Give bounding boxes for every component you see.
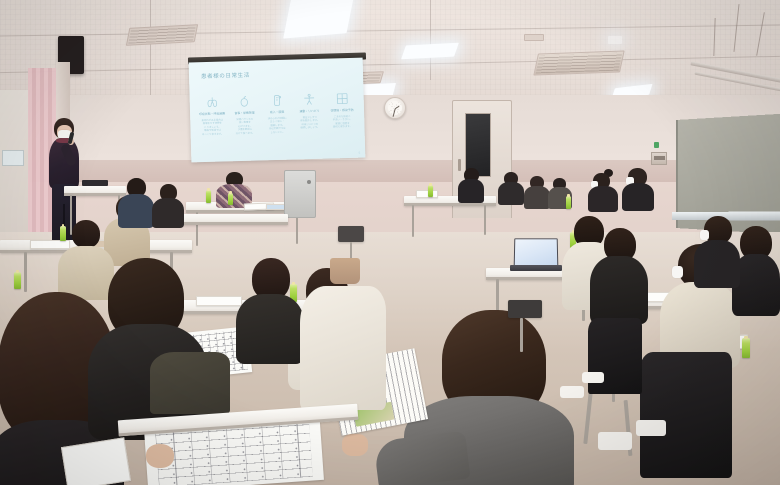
slide-body-4: 毎日少しずつ 体を動かします。 呼吸リハビリを 継続しましょう。 <box>296 115 324 130</box>
ceiling-light-7 <box>608 36 622 44</box>
window-icon <box>335 92 348 105</box>
projector-screen[interactable]: 患者様の日常生活 呼吸状態・呼吸困難 息切れがある場合は 無理をせず休憩を とり… <box>189 58 366 163</box>
attendee-shoe <box>560 386 584 398</box>
exit-indicator-icon <box>654 142 659 148</box>
green-tea-bottle <box>14 272 21 289</box>
attendee-torso <box>590 256 648 324</box>
slide-icon-row: 呼吸状態・呼吸困難 息切れがある場合は 無理をせず休憩を とりましょう。 階段や… <box>198 92 357 137</box>
attendee-back-2 <box>498 172 524 204</box>
attendee-right-dark <box>590 228 648 320</box>
slide-column-3: 吸入・服薬 決められた時間に 正しく吸入・ 服薬します。 自己判断で中止 しない… <box>263 94 292 135</box>
air-purifier <box>284 170 316 218</box>
seminar-room-photo: 患者様の日常生活 呼吸状態・呼吸困難 息切れがある場合は 無理をせず休憩を とり… <box>0 0 780 485</box>
wall-notice <box>2 150 24 166</box>
slide-column-5: 住環境・感染予防 こまめな換気と 手洗い・うがい。 室温と湿度を 適切に保ちます… <box>328 92 357 133</box>
desk-leg <box>24 252 27 292</box>
slide-body-1: 息切れがある場合は 無理をせず休憩を とりましょう。 階段や坂道では ゆっくり歩… <box>198 118 226 136</box>
inhaler-icon <box>270 94 283 107</box>
attendee-torso <box>458 179 484 203</box>
green-tea-bottle <box>742 338 750 358</box>
attendee-torso <box>694 240 740 288</box>
attendee-foreground-gray <box>404 310 574 485</box>
attendee-face-mask <box>700 230 709 240</box>
slide-body-3: 決められた時間に 正しく吸入・ 服薬します。 自己判断で中止 しないこと。 <box>263 116 291 134</box>
desk-edge <box>404 203 496 206</box>
ceiling-vent-3 <box>524 34 544 41</box>
attendee-center-dark <box>236 258 304 358</box>
wall-clock <box>384 97 406 119</box>
wall-control-box[interactable] <box>651 152 667 165</box>
slide-body-2: 栄養バランスの 良い食事を 心がけます。 少量を数回に 分けて食べます。 <box>231 117 259 135</box>
foreground-hand <box>146 444 174 468</box>
slide-title: 患者様の日常生活 <box>201 71 250 80</box>
ceiling-vent-1 <box>126 24 198 46</box>
desk-papers <box>416 190 438 198</box>
slide-caption-4: 運動・リハビリ <box>296 110 324 115</box>
apple-icon <box>238 95 251 108</box>
green-tea-bottle <box>206 190 211 203</box>
attendee-mid-dark-2 <box>152 184 184 226</box>
attendee-shoe <box>582 372 604 383</box>
attendee-shoe <box>636 420 666 436</box>
attendee-torso <box>524 186 550 209</box>
coat-on-chair <box>640 352 732 478</box>
attendee-torso <box>588 186 618 212</box>
attendee-shoulder-olive <box>150 352 230 414</box>
ceiling-ac-unit <box>533 51 624 76</box>
attendee-masked-right <box>622 168 654 210</box>
attendee-bun-right <box>588 172 618 210</box>
slide-caption-5: 住環境・感染予防 <box>328 109 356 114</box>
attendee-back-1 <box>458 168 484 202</box>
slide-page-number: 5 <box>358 151 360 155</box>
attendee-hand <box>342 434 368 456</box>
attendee-shoe <box>598 432 632 450</box>
attendee-torso <box>498 182 524 205</box>
stretch-figure-icon <box>303 93 316 106</box>
ceiling-light-1 <box>283 0 355 39</box>
handbag <box>330 258 360 284</box>
slide-column-2: 食事・栄養管理 栄養バランスの 良い食事を 心がけます。 少量を数回に 分けて食… <box>230 95 259 136</box>
desk-leg <box>484 205 486 235</box>
attendee-torso <box>152 198 184 228</box>
attendee-torso <box>118 194 154 228</box>
podium-laptop <box>82 180 108 186</box>
attendee-face-mask <box>672 266 683 278</box>
slide-body-5: こまめな換気と 手洗い・うがい。 室温と湿度を 適切に保ちます。 <box>328 115 356 130</box>
green-tea-bottle <box>428 185 433 197</box>
lungs-icon <box>205 96 218 109</box>
attendee-right-masked <box>694 216 740 284</box>
podium-table <box>64 186 126 196</box>
desk-leg <box>412 205 414 237</box>
chair-back[interactable] <box>508 300 542 318</box>
chair-back[interactable] <box>338 226 364 242</box>
ceiling-seam-4 <box>430 0 431 80</box>
attendee-torso <box>622 183 654 211</box>
green-tea-bottle <box>566 196 571 209</box>
attendee-torso <box>236 294 304 364</box>
attendee-back-3 <box>524 176 550 208</box>
attendee-laptop[interactable] <box>514 238 559 267</box>
attendee-torso <box>300 286 386 410</box>
attendee-mid-dark-1 <box>118 178 154 226</box>
vent-louvers <box>536 53 623 74</box>
green-tea-bottle <box>228 193 233 205</box>
slide-column-1: 呼吸状態・呼吸困難 息切れがある場合は 無理をせず休憩を とりましょう。 階段や… <box>198 95 227 136</box>
chair-leg <box>520 318 523 352</box>
attendee-floral-top <box>214 172 254 206</box>
slide-caption-2: 食事・栄養管理 <box>231 112 259 117</box>
ceiling-seam-3 <box>150 0 151 95</box>
slide-caption-3: 吸入・服薬 <box>263 111 291 116</box>
slide-column-4: 運動・リハビリ 毎日少しずつ 体を動かします。 呼吸リハビリを 継続しましょう。 <box>295 93 324 134</box>
vent-louvers <box>128 26 196 43</box>
slide-caption-1: 呼吸状態・呼吸困難 <box>198 112 226 117</box>
attendee-foreground-center-white <box>300 286 386 406</box>
laptop-keyboard-base[interactable] <box>510 265 562 271</box>
